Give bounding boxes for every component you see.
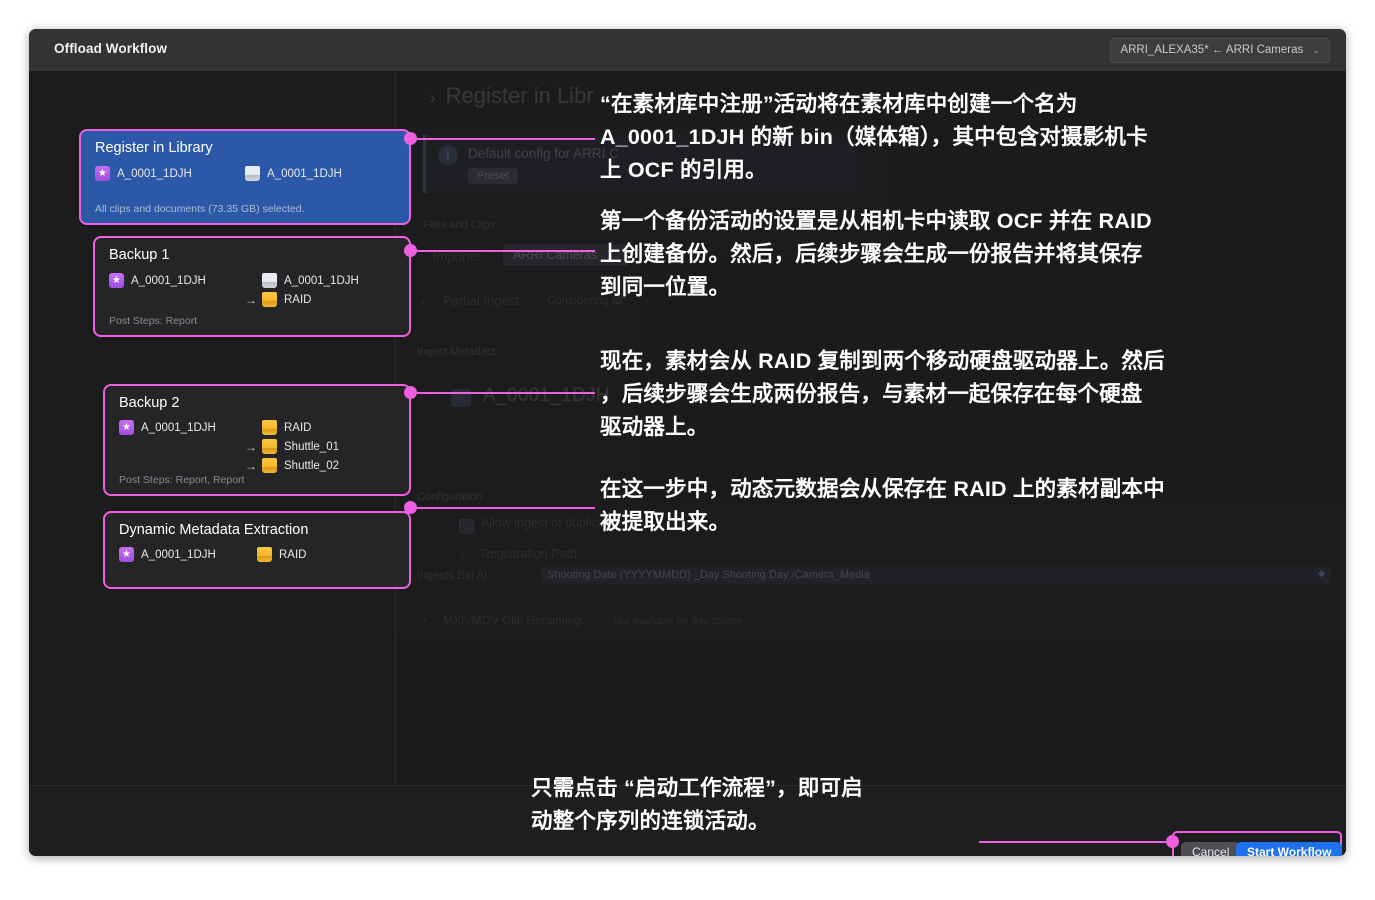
callout-dot-4 [404,501,417,514]
callout-line-3 [417,392,595,394]
clip-renaming-label: MXF/MOV Clip Renaming: [443,613,584,627]
activity-source-label: A_0001_1DJH [141,549,216,561]
chevron-down-icon: ⌄ [1312,45,1320,55]
activity-card-footer: Post Steps: Report [109,315,197,327]
activity-target-chip: → Shuttle_02 [245,456,339,475]
ingest-clip-name: A_0001_1DJH [483,385,610,407]
activity-target-label: RAID [279,549,306,561]
ingests-bin-at-label: Ingests Bin At [417,570,487,582]
star-badge-icon: ★ [119,420,134,435]
source-selector-label: ARRI_ALEXA35* ← ARRI Cameras [1120,44,1303,56]
activity-target-label: RAID [284,294,311,306]
star-badge-icon: ★ [95,166,110,181]
title-bar: Offload Workflow ARRI_ALEXA35* ← ARRI Ca… [29,29,1346,72]
registration-path-label: Registration Path [481,547,577,561]
drive-icon [262,458,277,473]
annotation-register-in-library: “在素材库中注册”活动将在素材库中创建一个名为 A_0001_1DJH 的新 b… [600,88,1340,187]
activity-target-label: A_0001_1DJH [284,275,359,287]
clip-renaming-chevron-icon[interactable]: › [423,614,427,626]
callout-line-2 [417,250,595,252]
callout-line-5 [979,841,1174,843]
activity-card-footer: Post Steps: Report, Report [119,474,244,486]
activity-source-chip: ★ A_0001_1DJH [119,418,216,437]
activity-target-chip: RAID [245,418,339,437]
callout-line-1 [417,138,595,140]
activity-card-footer: All clips and documents (73.35 GB) selec… [95,203,305,215]
star-badge-icon: ★ [119,547,134,562]
configuration-label: Configuration [417,491,482,503]
activity-card-dynamic-metadata-extraction[interactable]: Dynamic Metadata Extraction ★ A_0001_1DJ… [103,511,411,589]
activity-target-label: Shuttle_02 [284,460,339,472]
activity-card-title: Dynamic Metadata Extraction [119,522,308,538]
source-selector-dropdown[interactable]: ARRI_ALEXA35* ← ARRI Cameras ⌄ [1110,38,1330,63]
activity-target-chip: → RAID [245,290,359,309]
activity-target-chip: → Shuttle_01 [245,437,339,456]
page-title: Offload Workflow [54,41,167,56]
arrow-icon: → [245,459,262,473]
drive-icon [262,420,277,435]
ingest-metadata-label: Ingest Metadata [417,346,496,358]
partial-ingest-chevron-icon[interactable]: › [421,294,425,309]
files-and-clips-label: Files and Clips [423,219,495,231]
star-badge-icon: ★ [109,273,124,288]
drive-icon [257,547,272,562]
partial-ingest-label: Partial Ingest: [443,293,523,308]
activity-detail-pane: ›Register in Libr i Default config for A… [395,71,1346,856]
annotation-dynamic-metadata: 在这一步中，动态元数据会从保存在 RAID 上的素材副本中 被提取出来。 [600,473,1340,539]
detail-pane-heading: ›Register in Libr [430,83,594,109]
camera-card-icon [245,166,260,181]
stepper-icon[interactable]: ◆ [1318,568,1325,579]
camera-card-icon [262,273,277,288]
activity-target-chip: RAID [257,545,306,564]
preset-chip[interactable]: Preset [468,168,518,184]
activity-card-title: Backup 1 [109,247,169,263]
activity-card-backup-1[interactable]: Backup 1 ★ A_0001_1DJH A_0001_1DJH → RAI… [93,236,411,337]
activity-target-chip: A_0001_1DJH [245,164,342,183]
info-icon: i [438,145,458,165]
activity-source-chip: ★ A_0001_1DJH [119,545,216,564]
registration-path-chevron-icon[interactable]: ⌄ [459,549,468,562]
drive-icon [262,292,277,307]
annotation-backup-2: 现在，素材会从 RAID 复制到两个移动硬盘驱动器上。然后 ，后续步骤会生成两份… [600,345,1340,444]
activity-card-title: Backup 2 [119,395,179,411]
preset-config-text: Default config for ARRI C [468,146,619,161]
activity-card-register-in-library[interactable]: Register in Library ★ A_0001_1DJH A_0001… [79,129,411,225]
chevron-right-icon: › [430,88,436,107]
activity-source-chip: ★ A_0001_1DJH [109,271,206,290]
activity-target-chip: A_0001_1DJH [245,271,359,290]
registration-path-field[interactable]: Shooting Date (YYYYMMDD) _Day Shooting D… [541,567,1331,584]
allow-duplicates-checkbox[interactable] [459,519,474,534]
activity-target-label: Shuttle_01 [284,441,339,453]
activity-source-label: A_0001_1DJH [131,275,206,287]
arrow-icon: → [245,293,262,307]
annotation-backup-1: 第一个备份活动的设置是从相机卡中读取 OCF 并在 RAID 上创建备份。然后，… [600,205,1340,304]
activity-target-label: RAID [284,422,311,434]
drive-icon [262,439,277,454]
activity-target-label: A_0001_1DJH [267,168,342,180]
registration-path-value: Shooting Date (YYYYMMDD) _Day Shooting D… [547,569,870,581]
activity-source-chip: ★ A_0001_1DJH [95,164,192,183]
arrow-icon: → [245,440,262,454]
activity-card-title: Register in Library [95,140,213,156]
annotation-start-workflow: 只需点击 “启动工作流程”，即可启 动整个序列的连锁活动。 [531,772,1091,838]
activity-card-backup-2[interactable]: Backup 2 ★ A_0001_1DJH RAID → Shuttle_01 [103,384,411,496]
callout-dot-2 [404,244,417,257]
start-workflow-button[interactable]: Start Workflow [1236,842,1342,856]
callout-dot-3 [404,386,417,399]
activity-source-label: A_0001_1DJH [117,168,192,180]
cancel-button[interactable]: Cancel [1181,842,1240,856]
activity-source-label: A_0001_1DJH [141,422,216,434]
callout-dot-1 [404,132,417,145]
window-body: ›Register in Libr i Default config for A… [29,71,1346,856]
callout-line-4 [417,507,595,509]
clip-renaming-value: Not available for this source [613,615,743,627]
